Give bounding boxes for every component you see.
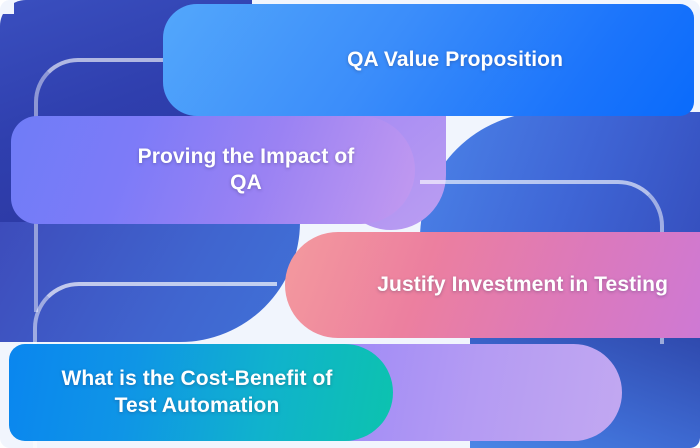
pill-cost-benefit-of-test-automation[interactable]: What is the Cost-Benefit of Test Automat… [9, 344, 393, 441]
pill-label-justify-investment-in-testing: Justify Investment in Testing [377, 272, 668, 298]
pill-label-proving-impact-of-qa: Proving the Impact of QA [138, 144, 355, 197]
pill-qa-value-proposition[interactable]: QA Value Proposition [163, 4, 694, 116]
decor-block-mid-left [0, 222, 300, 342]
pill-justify-investment-in-testing[interactable]: Justify Investment in Testing [285, 232, 700, 338]
pill-proving-impact-of-qa[interactable]: Proving the Impact of QA [11, 116, 415, 224]
decor-corner-notch [0, 0, 14, 14]
decor-block-mid-right [420, 112, 700, 238]
decor-block-bottom-right [470, 336, 700, 448]
pill-label-qa-value-proposition: QA Value Proposition [347, 47, 563, 73]
pill-label-cost-benefit-of-test-automation: What is the Cost-Benefit of Test Automat… [61, 366, 332, 419]
infographic-canvas: QA Value Proposition Proving the Impact … [0, 0, 700, 448]
